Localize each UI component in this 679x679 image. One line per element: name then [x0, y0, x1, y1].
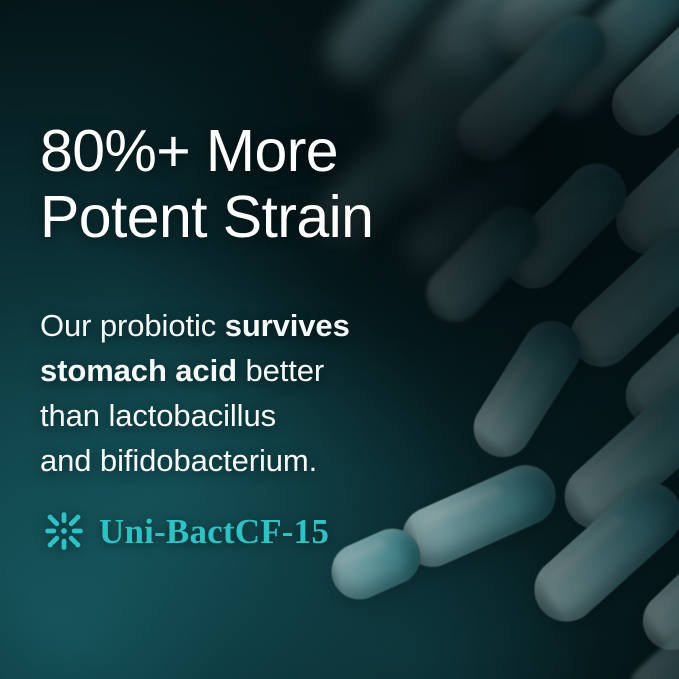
headline-line-1: 80%+ More [40, 118, 480, 184]
body-copy-line-1: Our probiotic survives [40, 303, 460, 348]
content-block: 80%+ More Potent Strain Our probiotic su… [40, 0, 470, 679]
body-copy-emphasis: stomach acid [40, 353, 237, 388]
headline-line-2: Potent Strain [40, 184, 480, 250]
body-copy-line-2: stomach acid better [40, 348, 460, 393]
body-copy-emphasis: survives [225, 308, 350, 343]
radial-bacteria-burst-icon [40, 507, 88, 555]
headline: 80%+ More Potent Strain [40, 118, 480, 250]
brand-name: Uni-BactCF-15 [99, 514, 329, 549]
body-copy-line-3: than lactobacillus [40, 393, 460, 438]
probiotic-ad-banner: 80%+ More Potent Strain Our probiotic su… [0, 0, 679, 679]
body-copy: Our probiotic survives stomach acid bett… [40, 303, 460, 483]
brand-lockup: Uni-BactCF-15 [40, 507, 329, 555]
body-copy-line-4: and bifidobacterium. [40, 438, 460, 483]
